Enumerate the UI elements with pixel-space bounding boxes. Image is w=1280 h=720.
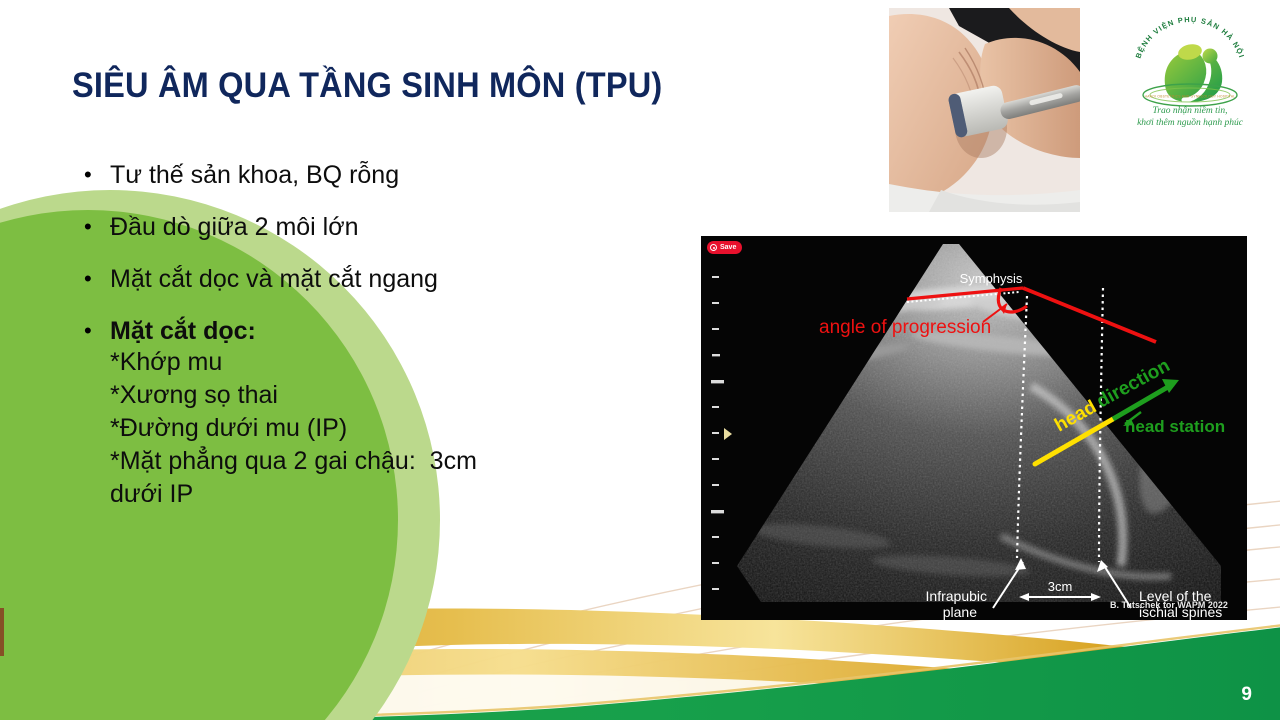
bullet-text: Mặt cắt dọc và mặt cắt ngang xyxy=(110,264,684,294)
transperineal-probe-placement-photo xyxy=(889,8,1080,212)
bullet-marker: • xyxy=(84,316,110,346)
image-credit: B. Tutschek for WAPM 2022 xyxy=(1110,600,1228,610)
logo-tagline-line2: khơi thêm nguồn hạnh phúc xyxy=(1137,117,1244,128)
bullet-marker: • xyxy=(84,212,110,242)
page-title: SIÊU ÂM QUA TẦNG SINH MÔN (TPU) xyxy=(72,66,779,106)
presentation-slide: SIÊU ÂM QUA TẦNG SINH MÔN (TPU) • Tư thế… xyxy=(0,0,1280,720)
annotation-symphysis: Symphysis xyxy=(960,271,1023,286)
ultrasound-image: Symphysis angle of progression head dire… xyxy=(701,236,1247,620)
save-badge[interactable]: Save xyxy=(707,241,742,254)
list-item: • Mặt cắt dọc và mặt cắt ngang xyxy=(84,264,684,294)
hospital-logo: BỆNH VIỆN PHỤ SẢN HÀ NỘI HANOI OBSTETRIC… xyxy=(1118,10,1268,130)
list-item: • Tư thế sản khoa, BQ rỗng xyxy=(84,160,684,190)
annotation-angle-of-progression: angle of progression xyxy=(819,317,991,338)
sub-item: *Đường dưới mu (IP) xyxy=(110,412,684,445)
sub-item: dưới IP xyxy=(110,478,684,511)
list-item: • Đầu dò giữa 2 môi lớn xyxy=(84,212,684,242)
save-label: Save xyxy=(720,244,736,251)
logo-base-microtext: HANOI OBSTETRICS AND GYNECOLOGY HOSPITAL xyxy=(1145,95,1236,99)
annotation-plane: plane xyxy=(943,604,977,620)
bullet-marker: • xyxy=(84,160,110,190)
sub-item-list: *Khớp mu *Xương sọ thai *Đường dưới mu (… xyxy=(110,346,684,511)
bullet-text: Tư thế sản khoa, BQ rỗng xyxy=(110,160,684,190)
bullet-list: • Tư thế sản khoa, BQ rỗng • Đầu dò giữa… xyxy=(84,160,684,511)
bullet-text: Mặt cắt dọc: xyxy=(110,316,684,346)
logo-tagline-line1: Trao nhận niềm tin, xyxy=(1153,105,1228,116)
annotation-head-station: head station xyxy=(1125,417,1225,436)
sub-item: *Xương sọ thai xyxy=(110,379,684,412)
sub-item: *Khớp mu xyxy=(110,346,684,379)
list-item: • Mặt cắt dọc: xyxy=(84,316,684,346)
bullet-marker: • xyxy=(84,264,110,294)
record-icon xyxy=(710,244,717,251)
annotation-infrapubic: Infrapubic xyxy=(926,588,987,604)
annotation-3cm: 3cm xyxy=(1048,579,1073,594)
sub-item: *Mặt phẳng qua 2 gai chậu: 3cm xyxy=(110,445,684,478)
bullet-text: Đầu dò giữa 2 môi lớn xyxy=(110,212,684,242)
page-number: 9 xyxy=(1241,684,1252,706)
